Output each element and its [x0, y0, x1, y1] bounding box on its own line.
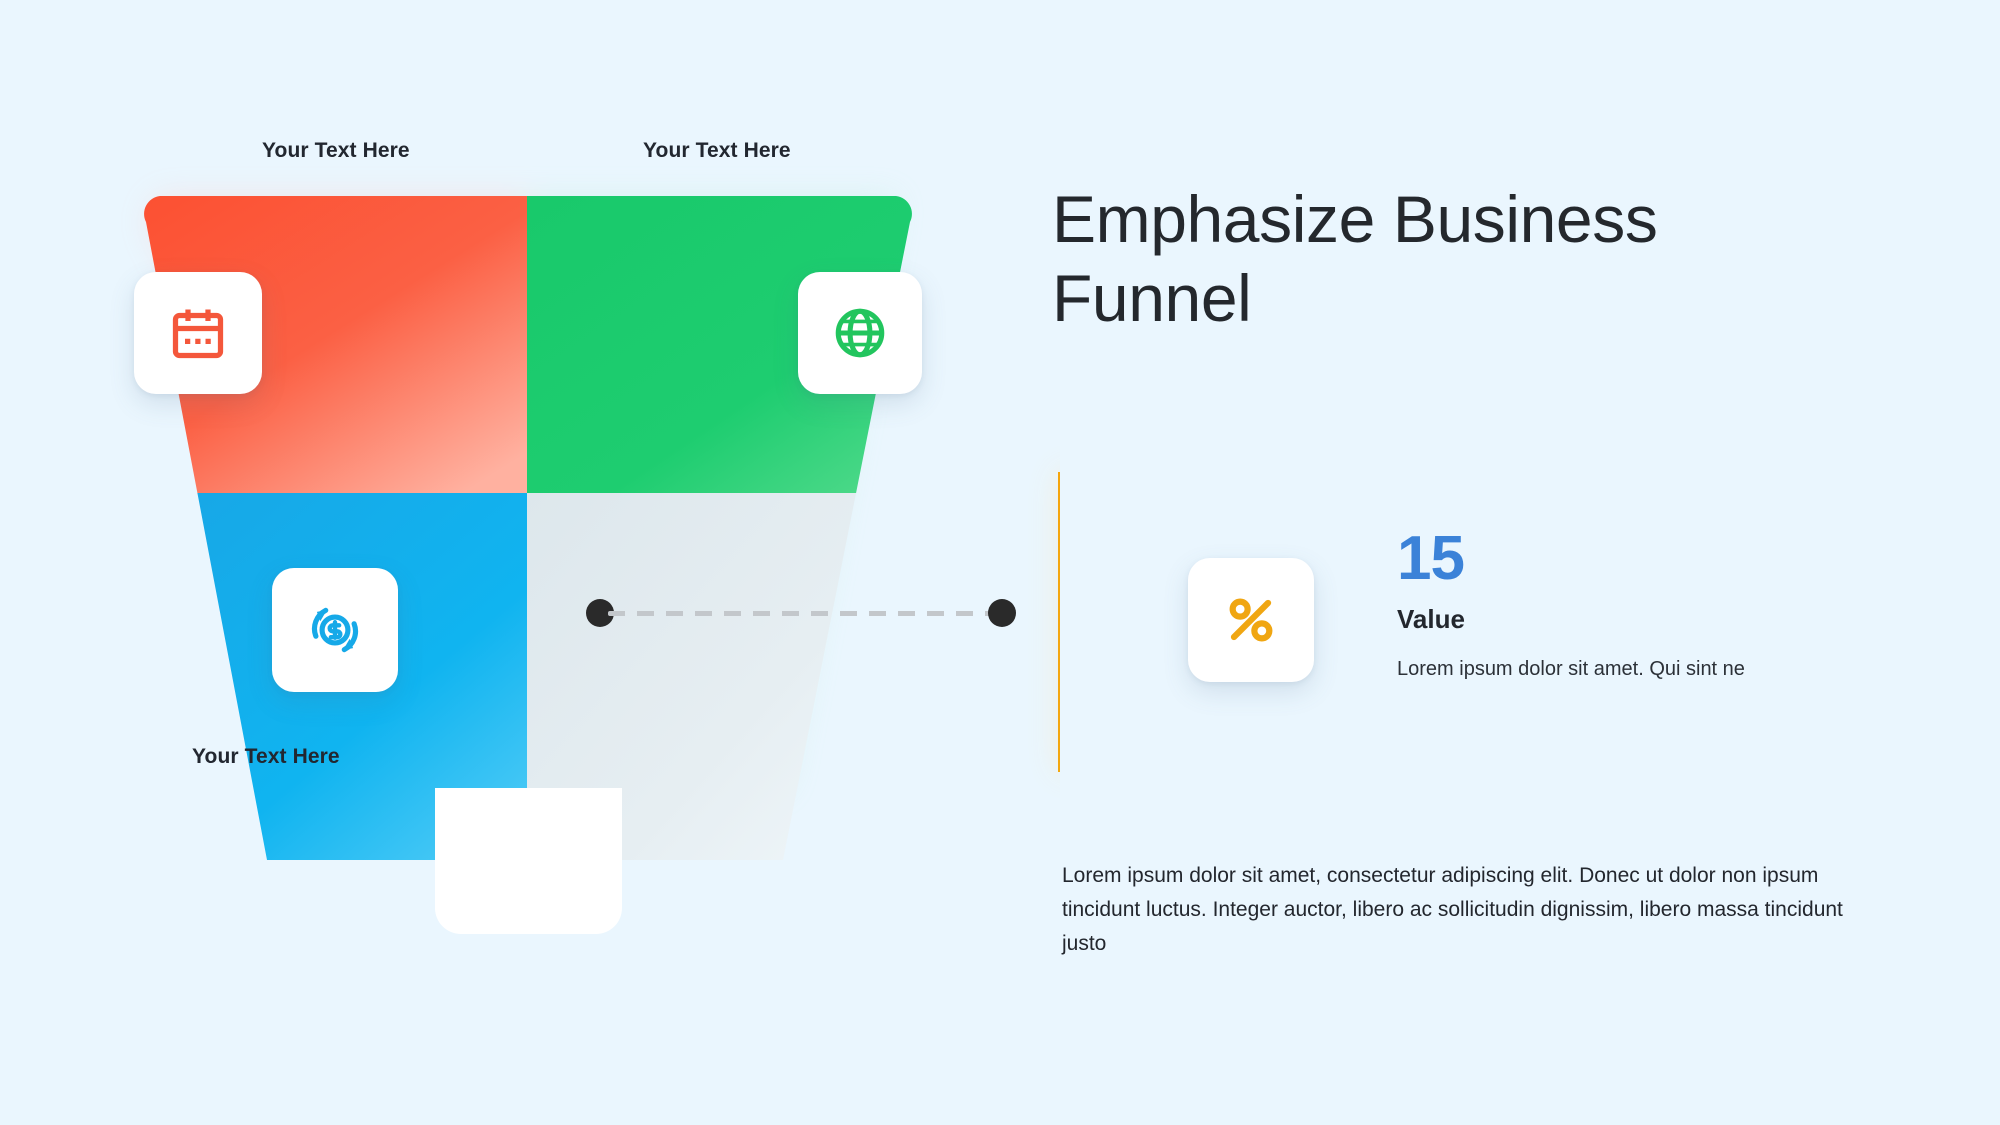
globe-icon	[831, 304, 889, 362]
connector-dot-right[interactable]	[988, 599, 1016, 627]
stat-block: 15 Value Lorem ipsum dolor sit amet. Qui…	[1397, 528, 1877, 684]
icon-card-calendar[interactable]	[134, 272, 262, 394]
connector-dashed-line	[608, 611, 996, 616]
stat-description: Lorem ipsum dolor sit amet. Qui sint ne	[1397, 655, 1757, 684]
body-paragraph: Lorem ipsum dolor sit amet, consectetur …	[1062, 859, 1852, 961]
calendar-icon	[168, 303, 228, 363]
funnel-diagram: Your Text Here Your Text Here Your Text …	[0, 0, 1060, 1000]
content-column: Emphasize Business Funnel 15 Value Lorem…	[1052, 0, 1952, 1125]
icon-card-globe[interactable]	[798, 272, 922, 394]
dollar-refresh-icon	[304, 599, 366, 661]
funnel-label-top-right[interactable]: Your Text Here	[643, 139, 791, 163]
funnel-label-bottom-left[interactable]: Your Text Here	[192, 745, 340, 769]
funnel-connector	[586, 596, 1016, 630]
funnel-svg	[0, 0, 1060, 1000]
stat-label: Value	[1397, 604, 1877, 635]
funnel-label-top-left[interactable]: Your Text Here	[262, 139, 410, 163]
slide-canvas: Your Text Here Your Text Here Your Text …	[0, 0, 2000, 1125]
page-title: Emphasize Business Funnel	[1052, 180, 1812, 337]
icon-card-dollar-refresh[interactable]	[272, 568, 398, 692]
stat-number: 15	[1397, 528, 1877, 590]
funnel-bottom-card[interactable]	[435, 788, 622, 934]
